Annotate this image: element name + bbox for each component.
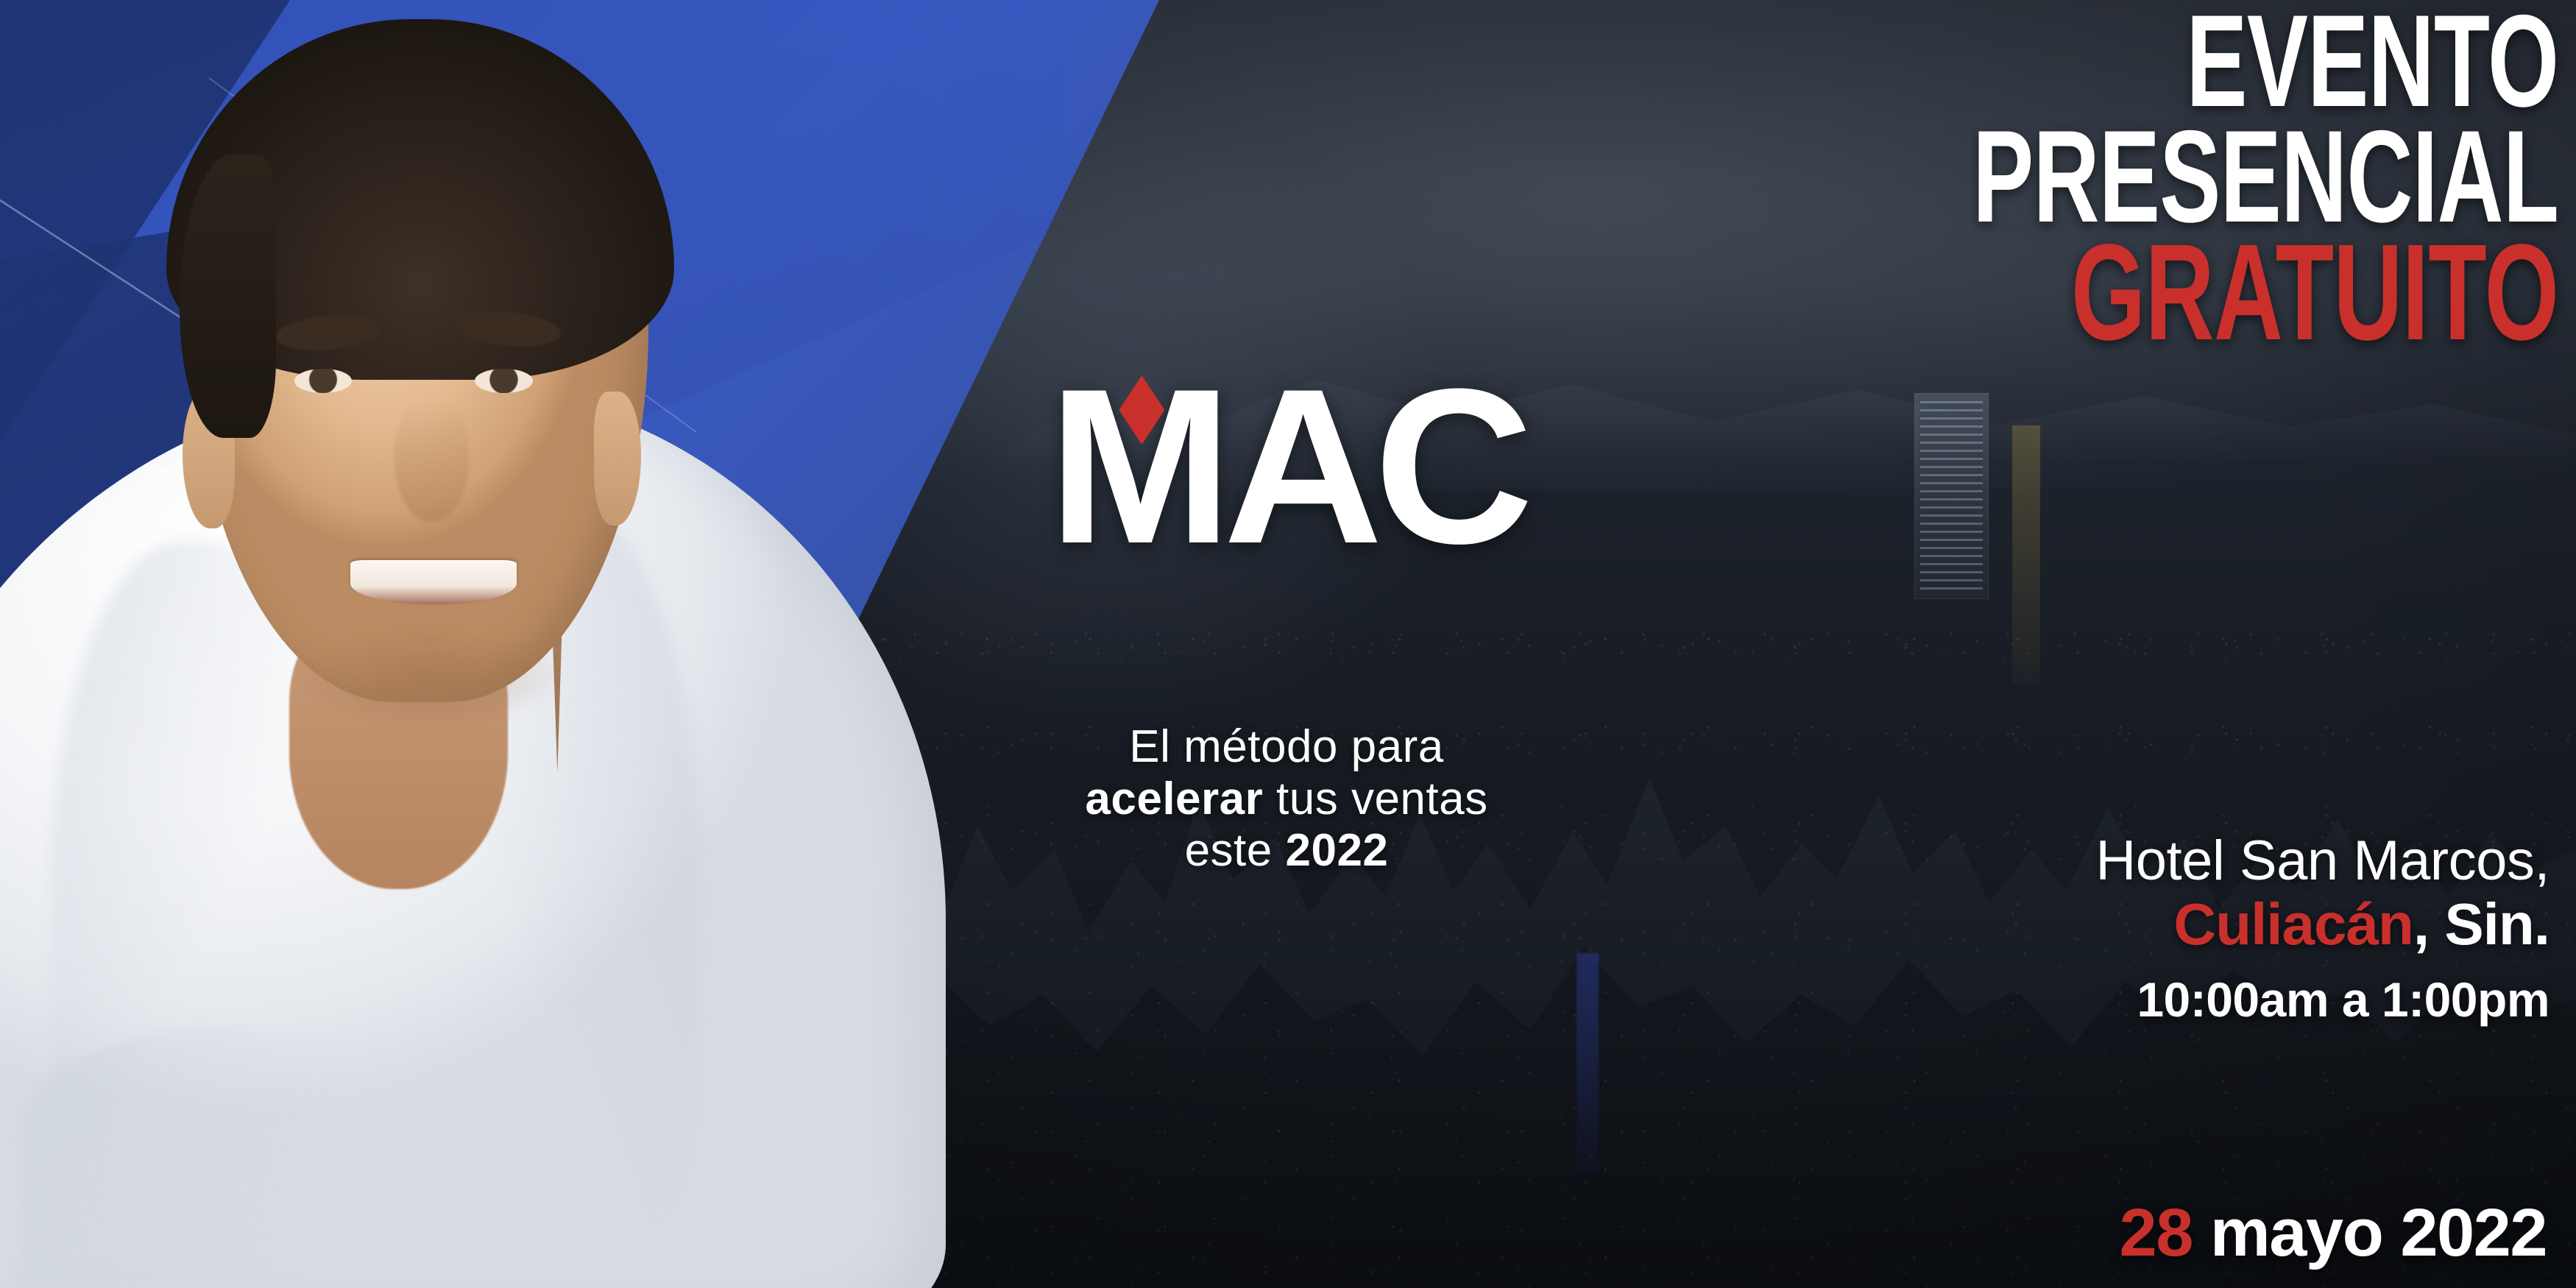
tagline-line-3: este 2022 [926,825,1647,877]
nose [394,400,469,522]
tagline-block: El método para acelerar tus ventas este … [926,721,1647,877]
headline-line-evento: EVENTO [1972,4,2558,117]
event-promo-banner: EVENTO PRESENCIAL GRATUITO MAC El método… [0,0,2576,1288]
tagline-sales: tus ventas [1263,774,1487,824]
eye-left [294,369,353,393]
event-date-day: 28 [2120,1195,2193,1270]
tagline-accelerate: acelerar [1085,774,1263,824]
venue-location: Culiacán, Sin. [1777,893,2550,956]
event-info-block: Hotel San Marcos, Culiacán, Sin. 10:00am… [1777,832,2550,1029]
tagline-line-2: acelerar tus ventas [926,774,1647,826]
chin-shadow [298,625,561,728]
venue-state: , Sin. [2413,891,2550,957]
tagline-line-1: El método para [926,721,1647,774]
tagline-este: este [1185,825,1286,876]
venue-city: Culiacán [2173,891,2413,957]
event-time: 10:00am a 1:00pm [1777,971,2550,1029]
smile-mouth [350,560,517,604]
venue-name: Hotel San Marcos, [1777,832,2550,891]
tagline-year: 2022 [1285,825,1388,876]
eye-right [475,369,533,393]
mac-logo: MAC [1048,358,1524,574]
mac-logo-text: MAC [1048,342,1524,590]
event-date-month-year: mayo 2022 [2193,1195,2547,1270]
event-date: 28 mayo 2022 [2120,1195,2547,1272]
mac-logo-block: MAC [926,358,1647,574]
headline-line-gratuito: GRATUITO [1972,234,2558,352]
speaker-portrait [0,0,876,1288]
headline-block: EVENTO PRESENCIAL GRATUITO [1722,4,2558,352]
